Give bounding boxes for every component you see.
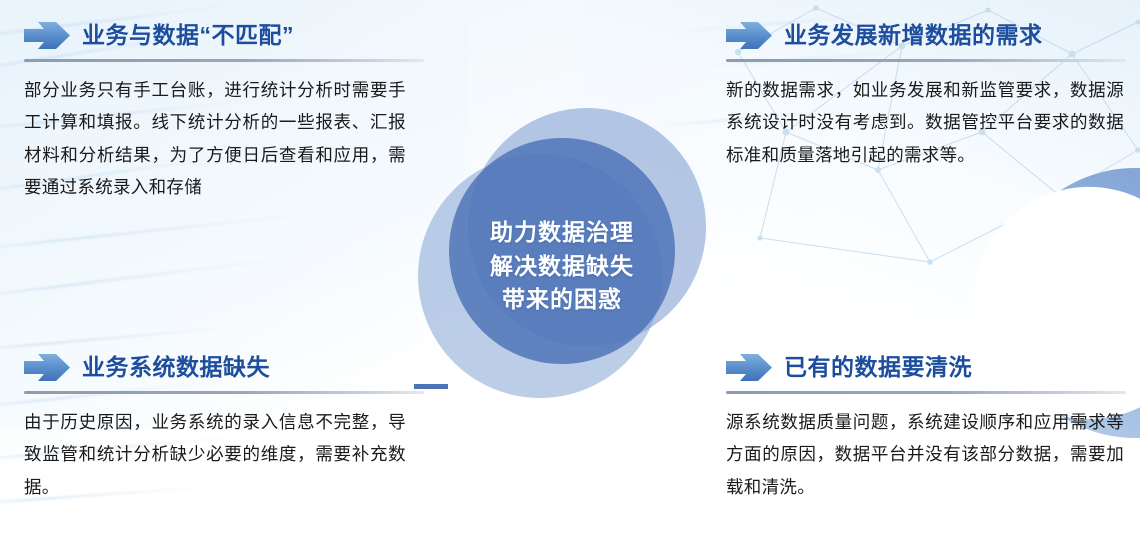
- quadrant-header: 业务发展新增数据的需求: [726, 16, 1126, 54]
- quadrant-title: 业务系统数据缺失: [82, 356, 270, 379]
- quadrant-title: 业务与数据“不匹配”: [82, 24, 294, 47]
- quadrant-divider: [726, 391, 1126, 394]
- quadrant-divider: [24, 59, 424, 62]
- slide-canvas: 助力数据治理 解决数据缺失 带来的困惑 业务与数据“不匹配” 部分业务只有手工台…: [0, 0, 1140, 536]
- quadrant-business-system-data-missing: 业务系统数据缺失 由于历史原因，业务系统的录入信息不完整，导致监管和统计分析缺少…: [24, 348, 424, 504]
- arrow-right-icon: [726, 354, 772, 381]
- quadrant-header: 已有的数据要清洗: [726, 348, 1126, 386]
- quadrant-body: 部分业务只有手工台账，进行统计分析时需要手工计算和填报。线下统计分析的一些报表、…: [24, 75, 406, 205]
- arrow-right-icon: [24, 22, 70, 49]
- quadrant-business-data-mismatch: 业务与数据“不匹配” 部分业务只有手工台账，进行统计分析时需要手工计算和填报。线…: [24, 16, 424, 205]
- quadrant-body: 新的数据需求，如业务发展和新监管要求，数据源系统设计时没有考虑到。数据管控平台要…: [726, 75, 1124, 172]
- quadrant-divider: [24, 391, 424, 394]
- center-circles: 助力数据治理 解决数据缺失 带来的困惑: [418, 108, 706, 398]
- quadrant-header: 业务与数据“不匹配”: [24, 16, 424, 54]
- quadrant-body: 源系统数据质量问题，系统建设顺序和应用需求等方面的原因，数据平台并没有该部分数据…: [726, 407, 1124, 504]
- quadrant-body: 由于历史原因，业务系统的录入信息不完整，导致监管和统计分析缺少必要的维度，需要补…: [24, 407, 406, 504]
- center-circle-main: [449, 138, 675, 364]
- arrow-right-icon: [726, 22, 772, 49]
- quadrant-new-data-demand: 业务发展新增数据的需求 新的数据需求，如业务发展和新监管要求，数据源系统设计时没…: [726, 16, 1126, 172]
- quadrant-title: 已有的数据要清洗: [784, 356, 972, 379]
- quadrant-title: 业务发展新增数据的需求: [784, 24, 1043, 47]
- quadrant-header: 业务系统数据缺失: [24, 348, 424, 386]
- quadrant-divider: [726, 59, 1126, 62]
- arrow-right-icon: [24, 354, 70, 381]
- quadrant-existing-data-cleaning: 已有的数据要清洗 源系统数据质量问题，系统建设顺序和应用需求等方面的原因，数据平…: [726, 348, 1126, 504]
